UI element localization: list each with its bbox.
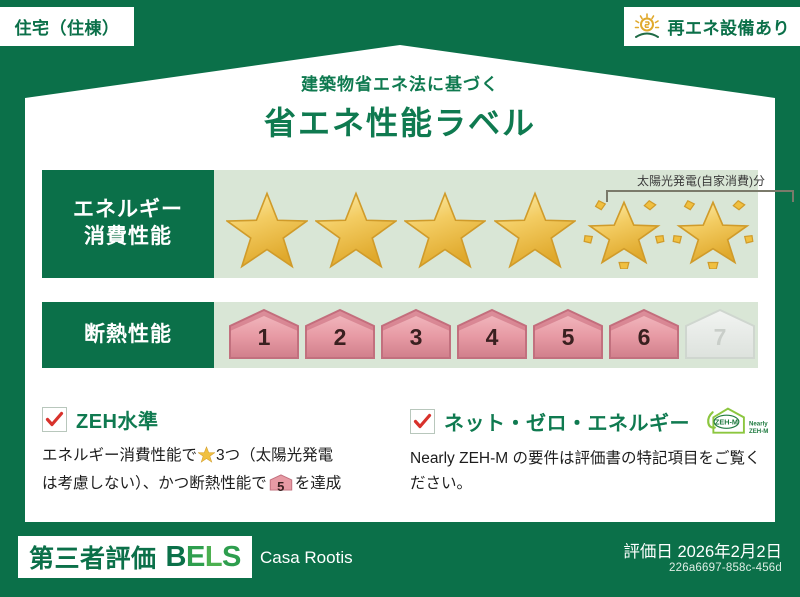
net-zero-energy-header: ネット・ゼロ・エネルギー ZEH-M Nearly ZEH-M bbox=[410, 405, 768, 437]
energy-label-line2: 消費性能 bbox=[84, 224, 172, 251]
evaluation-date-value: 2026年2月2日 bbox=[677, 543, 782, 561]
star-filled bbox=[401, 188, 490, 272]
net-zero-energy-title: ネット・ゼロ・エネルギー bbox=[444, 407, 690, 436]
solar-generation-note: 太陽光発電(自家消費)分 bbox=[606, 172, 796, 189]
sun-renewable-icon bbox=[632, 12, 662, 42]
insulation-grade-value: 4 bbox=[486, 324, 499, 362]
net-zero-energy-block: ネット・ゼロ・エネルギー ZEH-M Nearly ZEH-M Nearly Z… bbox=[410, 405, 768, 496]
insulation-label: 断熱性能 bbox=[84, 322, 172, 349]
insulation-grade-1: 1 bbox=[226, 306, 302, 362]
check-icon bbox=[45, 410, 64, 429]
zeh-m-logo: ZEH-M Nearly ZEH-M bbox=[703, 405, 775, 437]
star-filled bbox=[311, 188, 400, 272]
energy-performance-label-box: エネルギー 消費性能 bbox=[42, 170, 214, 278]
insulation-grade-scale: 1 2 3 bbox=[226, 306, 758, 362]
label-subtitle: 建築物省エネ法に基づく bbox=[0, 70, 800, 95]
svg-text:Nearly: Nearly bbox=[749, 420, 768, 427]
zeh-standard-text-part1: エネルギー消費性能で bbox=[42, 447, 197, 464]
insulation-performance-body: 1 2 3 bbox=[214, 302, 758, 368]
renewable-badge-label: 再エネ設備あり bbox=[668, 14, 791, 39]
insulation-grade-value: 5 bbox=[562, 324, 575, 362]
insulation-grade-4: 4 bbox=[454, 306, 530, 362]
zeh-standard-text-stars: 3つ（太陽光発電 bbox=[216, 447, 333, 464]
net-zero-energy-checkbox[interactable] bbox=[410, 409, 435, 434]
zeh-standard-checkbox[interactable] bbox=[42, 407, 67, 432]
evaluation-id: 226a6697-858c-456d bbox=[669, 562, 782, 574]
solar-bracket bbox=[606, 190, 794, 202]
insulation-grade-value: 7 bbox=[714, 324, 727, 362]
svg-text:ZEH-M: ZEH-M bbox=[749, 428, 768, 435]
building-name: Casa Rootis bbox=[260, 548, 353, 568]
inline-grade-value: 5 bbox=[269, 476, 293, 497]
footer: 第三者評価 BELS Casa Rootis 評価日 2026年2月2日 226… bbox=[0, 522, 800, 597]
insulation-grade-value: 6 bbox=[638, 324, 651, 362]
bels-badge: 第三者評価 BELS bbox=[18, 536, 252, 578]
net-zero-energy-body: Nearly ZEH-M の要件は評価書の特記項目をご覧ください。 bbox=[410, 446, 768, 496]
star-filled bbox=[490, 188, 579, 272]
zeh-standard-block: ZEH水準 エネルギー消費性能で 3つ（太陽光発電 は考慮しない）、かつ断熱性能… bbox=[42, 405, 394, 496]
insulation-grade-3: 3 bbox=[378, 306, 454, 362]
bels-jp-label: 第三者評価 bbox=[29, 539, 157, 575]
zeh-standard-text-part2: は考慮しない）、かつ断熱性能で bbox=[42, 475, 267, 492]
evaluation-date-label: 評価日 bbox=[623, 543, 673, 561]
zeh-m-house-icon: ZEH-M bbox=[703, 405, 747, 437]
label-title: 省エネ性能ラベル bbox=[0, 98, 800, 144]
star-filled bbox=[222, 188, 311, 272]
zeh-m-nearly-caption: Nearly ZEH-M bbox=[749, 417, 775, 437]
energy-performance-row: エネルギー 消費性能 太陽光発電(自家消費)分 bbox=[42, 170, 758, 278]
zeh-standard-title: ZEH水準 bbox=[76, 405, 159, 434]
energy-label-line1: エネルギー bbox=[73, 197, 183, 224]
inline-grade-badge: 5 bbox=[269, 473, 293, 492]
insulation-grade-7: 7 bbox=[682, 306, 758, 362]
insulation-grade-6: 6 bbox=[606, 306, 682, 362]
insulation-performance-row: 断熱性能 1 bbox=[42, 302, 758, 368]
insulation-grade-value: 1 bbox=[258, 324, 271, 362]
insulation-grade-value: 2 bbox=[334, 324, 347, 362]
evaluation-date: 評価日 2026年2月2日 bbox=[623, 538, 782, 562]
zeh-standard-header: ZEH水準 bbox=[42, 405, 394, 434]
check-icon bbox=[413, 412, 432, 431]
zeh-standard-body: エネルギー消費性能で 3つ（太陽光発電 は考慮しない）、かつ断熱性能で 5 を達… bbox=[42, 443, 394, 496]
inline-star-icon bbox=[198, 446, 215, 471]
renewable-equipment-badge: 再エネ設備あり bbox=[624, 7, 800, 46]
zeh-standard-text-part3: を達成 bbox=[295, 475, 342, 492]
insulation-grade-5: 5 bbox=[530, 306, 606, 362]
energy-performance-body: 太陽光発電(自家消費)分 bbox=[214, 170, 758, 278]
house-type-tag-label: 住宅（住棟） bbox=[15, 14, 120, 39]
energy-performance-label: 住宅（住棟） 再エネ設備あり 建築物省エネ法に基づく 省エネ性能ラベル エネルギ… bbox=[0, 0, 800, 597]
svg-text:ZEH-M: ZEH-M bbox=[715, 418, 738, 427]
insulation-grade-2: 2 bbox=[302, 306, 378, 362]
insulation-performance-label-box: 断熱性能 bbox=[42, 302, 214, 368]
house-type-tag: 住宅（住棟） bbox=[0, 7, 134, 46]
insulation-grade-value: 3 bbox=[410, 324, 423, 362]
bels-en-label: BELS bbox=[166, 541, 241, 574]
